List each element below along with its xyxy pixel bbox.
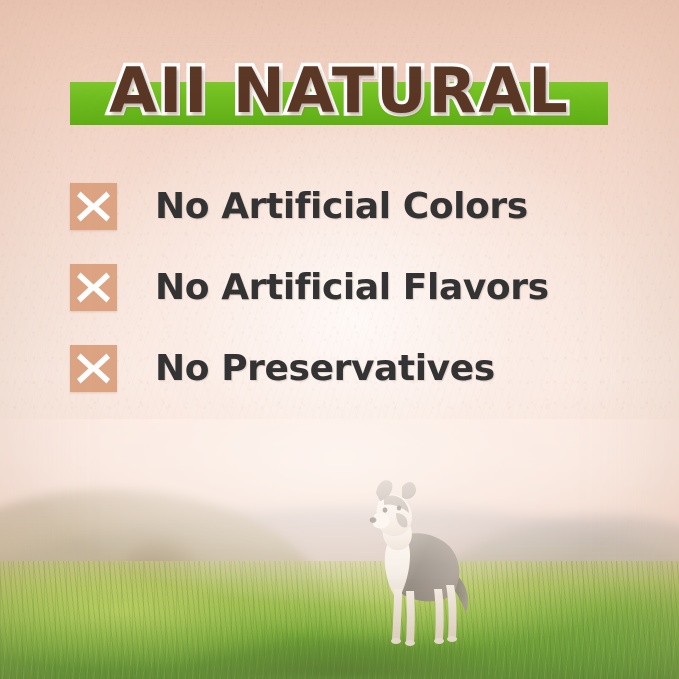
claim-row: No Artificial Colors bbox=[70, 170, 630, 243]
x-mark-icon bbox=[70, 345, 117, 392]
x-mark-icon bbox=[70, 183, 117, 230]
claim-label: No Preservatives bbox=[155, 348, 495, 389]
headline-title: AII NATURAL bbox=[0, 52, 679, 130]
x-mark-icon bbox=[70, 264, 117, 311]
all-natural-product-poster: AII NATURAL No Artificial Colors No Arti… bbox=[0, 0, 679, 679]
landscape-photo bbox=[0, 419, 679, 679]
claim-row: No Artificial Flavors bbox=[70, 251, 630, 324]
border-collie-dog bbox=[352, 477, 484, 655]
claim-row: No Preservatives bbox=[70, 332, 630, 405]
claim-label: No Artificial Flavors bbox=[155, 267, 549, 308]
claim-label: No Artificial Colors bbox=[155, 186, 528, 227]
headline-banner: AII NATURAL bbox=[0, 52, 679, 134]
